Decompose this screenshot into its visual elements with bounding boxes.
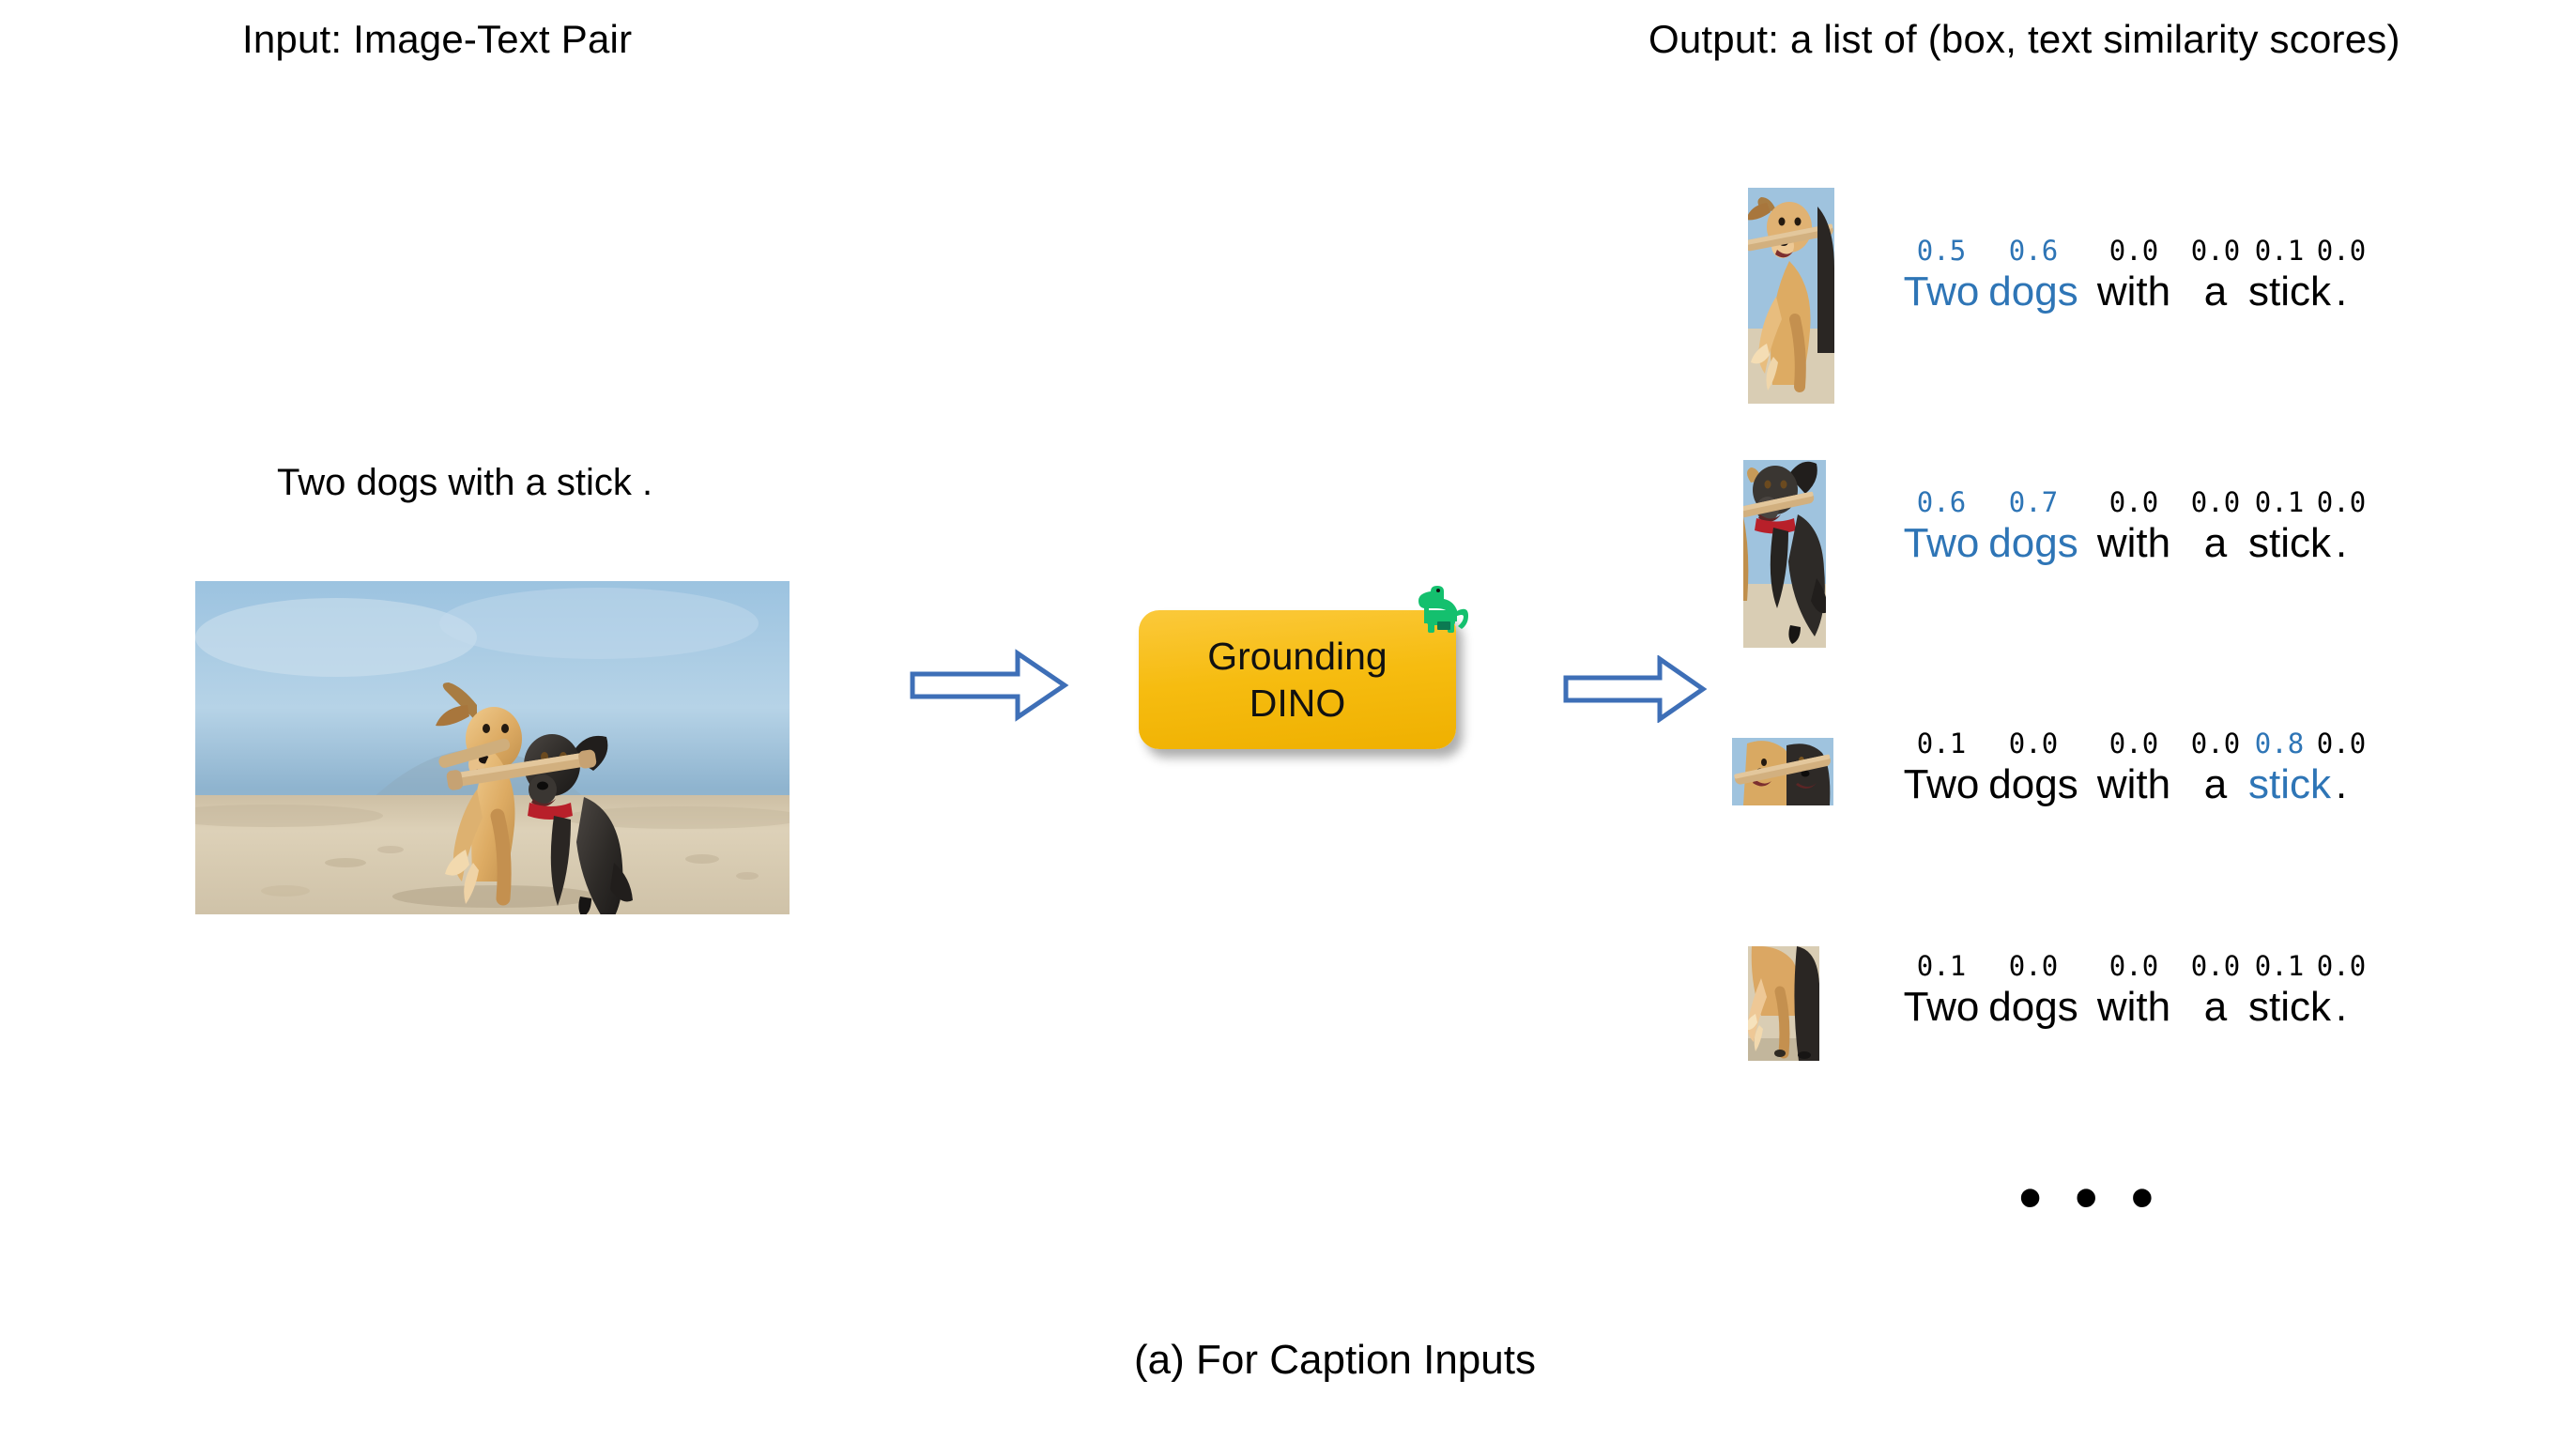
score-cell: 0.1 <box>1901 728 1982 759</box>
token-cell: Two <box>1901 520 1982 567</box>
score-cell: 0.0 <box>1982 728 2085 759</box>
score-cell: 0.0 <box>2183 728 2248 759</box>
caption-tokens: Two dogs with a stick . <box>1901 268 2372 315</box>
output-row-text: 0.1 0.0 0.0 0.0 0.1 0.0 Two dogs with a … <box>1901 950 2372 1031</box>
score-cell: 0.0 <box>2310 728 2372 759</box>
score-cell: 0.0 <box>2085 950 2183 982</box>
score-cell: 0.0 <box>2085 728 2183 759</box>
input-column-header: Input: Image-Text Pair <box>242 17 632 62</box>
token-cell: dogs <box>1982 984 2085 1031</box>
score-cell: 0.1 <box>2248 235 2310 267</box>
caption-tokens: Two dogs with a stick . <box>1901 761 2372 808</box>
token-cell: stick <box>2248 268 2310 315</box>
similarity-scores: 0.1 0.0 0.0 0.0 0.1 0.0 <box>1901 950 2372 982</box>
token-cell: . <box>2310 761 2372 808</box>
figure-caption: (a) For Caption Inputs <box>1134 1337 1536 1384</box>
arrow-model-to-output <box>1562 655 1709 723</box>
token-cell: with <box>2085 984 2183 1031</box>
score-cell: 0.1 <box>2248 486 2310 518</box>
crop-black-dog <box>1743 460 1826 648</box>
token-cell: dogs <box>1982 761 2085 808</box>
input-caption-text: Two dogs with a stick . <box>277 462 652 504</box>
output-row-text: 0.1 0.0 0.0 0.0 0.8 0.0 Two dogs with a … <box>1901 728 2372 808</box>
score-cell: 0.6 <box>1982 235 2085 267</box>
score-cell: 0.0 <box>2085 235 2183 267</box>
model-name-line1: Grounding <box>1207 633 1387 680</box>
output-column-header: Output: a list of (box, text similarity … <box>1648 17 2400 62</box>
token-cell: a <box>2183 520 2248 567</box>
score-cell: 0.7 <box>1982 486 2085 518</box>
score-cell: 0.0 <box>2183 486 2248 518</box>
score-cell: 0.0 <box>1982 950 2085 982</box>
token-cell: . <box>2310 268 2372 315</box>
dinosaur-icon <box>1418 582 1476 635</box>
token-cell: a <box>2183 268 2248 315</box>
score-cell: 0.8 <box>2248 728 2310 759</box>
token-cell: . <box>2310 984 2372 1031</box>
token-cell: Two <box>1901 761 1982 808</box>
score-cell: 0.5 <box>1901 235 1982 267</box>
model-name-line2: DINO <box>1250 680 1346 727</box>
token-cell: a <box>2183 984 2248 1031</box>
token-cell: Two <box>1901 268 1982 315</box>
score-cell: 0.0 <box>2310 235 2372 267</box>
input-photo <box>195 581 790 914</box>
token-cell: Two <box>1901 984 1982 1031</box>
token-cell: stick <box>2248 761 2310 808</box>
score-cell: 0.0 <box>2310 950 2372 982</box>
more-results-ellipsis: • • • <box>2018 1164 2163 1232</box>
caption-tokens: Two dogs with a stick . <box>1901 984 2372 1031</box>
score-cell: 0.0 <box>2085 486 2183 518</box>
caption-tokens: Two dogs with a stick . <box>1901 520 2372 567</box>
similarity-scores: 0.6 0.7 0.0 0.0 0.1 0.0 <box>1901 486 2372 518</box>
score-cell: 0.0 <box>2183 950 2248 982</box>
token-cell: dogs <box>1982 520 2085 567</box>
score-cell: 0.1 <box>1901 950 1982 982</box>
token-cell: a <box>2183 761 2248 808</box>
crop-dog-legs <box>1748 946 1819 1061</box>
token-cell: dogs <box>1982 268 2085 315</box>
token-cell: with <box>2085 761 2183 808</box>
token-cell: stick <box>2248 520 2310 567</box>
beach-photo-graphic <box>195 581 790 914</box>
score-cell: 0.6 <box>1901 486 1982 518</box>
token-cell: stick <box>2248 984 2310 1031</box>
output-row-text: 0.6 0.7 0.0 0.0 0.1 0.0 Two dogs with a … <box>1901 486 2372 567</box>
token-cell: with <box>2085 520 2183 567</box>
score-cell: 0.0 <box>2183 235 2248 267</box>
similarity-scores: 0.1 0.0 0.0 0.0 0.8 0.0 <box>1901 728 2372 759</box>
similarity-scores: 0.5 0.6 0.0 0.0 0.1 0.0 <box>1901 235 2372 267</box>
token-cell: . <box>2310 520 2372 567</box>
score-cell: 0.1 <box>2248 950 2310 982</box>
grounding-dino-model-box[interactable]: Grounding DINO <box>1139 610 1456 749</box>
token-cell: with <box>2085 268 2183 315</box>
crop-tan-dog <box>1748 188 1834 404</box>
output-row-text: 0.5 0.6 0.0 0.0 0.1 0.0 Two dogs with a … <box>1901 235 2372 315</box>
arrow-input-to-model <box>909 648 1070 723</box>
score-cell: 0.0 <box>2310 486 2372 518</box>
crop-stick <box>1732 738 1833 805</box>
